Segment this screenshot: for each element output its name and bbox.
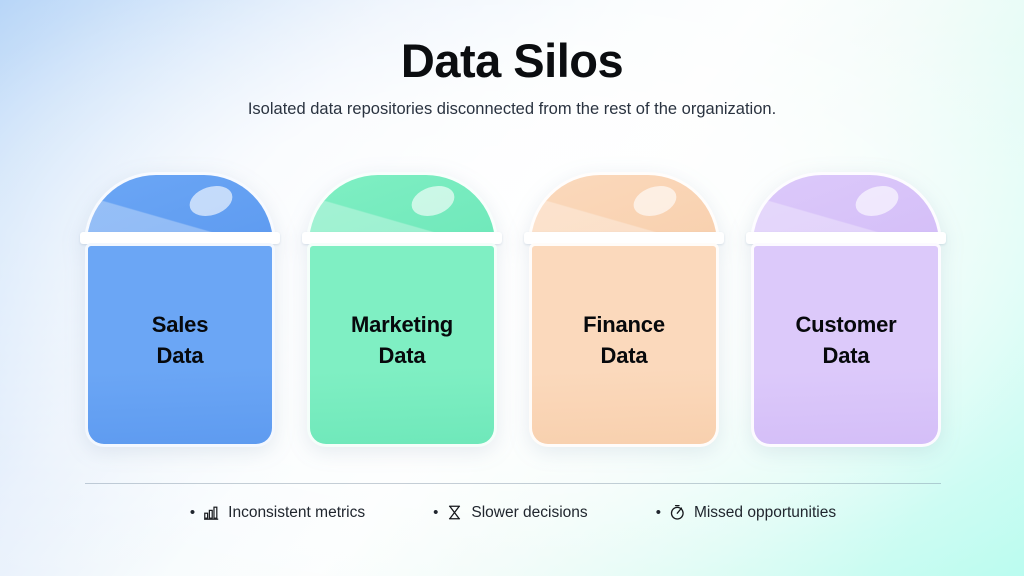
header: Data Silos Isolated data repositories di… (0, 36, 1024, 119)
silo-label: SalesData (152, 309, 209, 371)
silo-label: CustomerData (795, 309, 896, 371)
footer-divider (85, 483, 941, 484)
silo-body: CustomerData (751, 243, 941, 447)
bar-chart-icon (202, 503, 221, 522)
silo-label-line1: Finance (583, 312, 665, 337)
stopwatch-icon (668, 503, 687, 522)
silo-label-line2: Data (157, 343, 204, 368)
silo-label: FinanceData (583, 309, 665, 371)
silo-label-line2: Data (379, 343, 426, 368)
silo-customer-data[interactable]: CustomerData (750, 172, 942, 447)
hourglass-icon (445, 503, 464, 522)
footer-item-stopwatch: •Missed opportunities (656, 503, 836, 522)
silo-row: SalesDataMarketingDataFinanceDataCustome… (84, 172, 942, 447)
footer-item-label: Missed opportunities (694, 504, 836, 522)
silo-sales-data[interactable]: SalesData (84, 172, 276, 447)
footer-impact-list: •Inconsistent metrics•Slower decisions•M… (84, 503, 942, 522)
silo-marketing-data[interactable]: MarketingData (306, 172, 498, 447)
silo-body: MarketingData (307, 243, 497, 447)
footer-item-label: Inconsistent metrics (228, 504, 365, 522)
silo-body: FinanceData (529, 243, 719, 447)
slide-canvas: Data Silos Isolated data repositories di… (0, 0, 1024, 576)
silo-finance-data[interactable]: FinanceData (528, 172, 720, 447)
bullet-marker: • (190, 505, 195, 520)
silo-label: MarketingData (351, 309, 453, 371)
bullet-marker: • (433, 505, 438, 520)
bullet-marker: • (656, 505, 661, 520)
silo-label-line2: Data (601, 343, 648, 368)
footer-item-label: Slower decisions (471, 504, 587, 522)
silo-body: SalesData (85, 243, 275, 447)
silo-label-line1: Customer (795, 312, 896, 337)
page-subtitle: Isolated data repositories disconnected … (0, 100, 1024, 119)
footer-item-bar-chart: •Inconsistent metrics (190, 503, 365, 522)
page-title: Data Silos (0, 36, 1024, 86)
silo-label-line2: Data (823, 343, 870, 368)
silo-label-line1: Sales (152, 312, 209, 337)
silo-label-line1: Marketing (351, 312, 453, 337)
footer-item-hourglass: •Slower decisions (433, 503, 588, 522)
